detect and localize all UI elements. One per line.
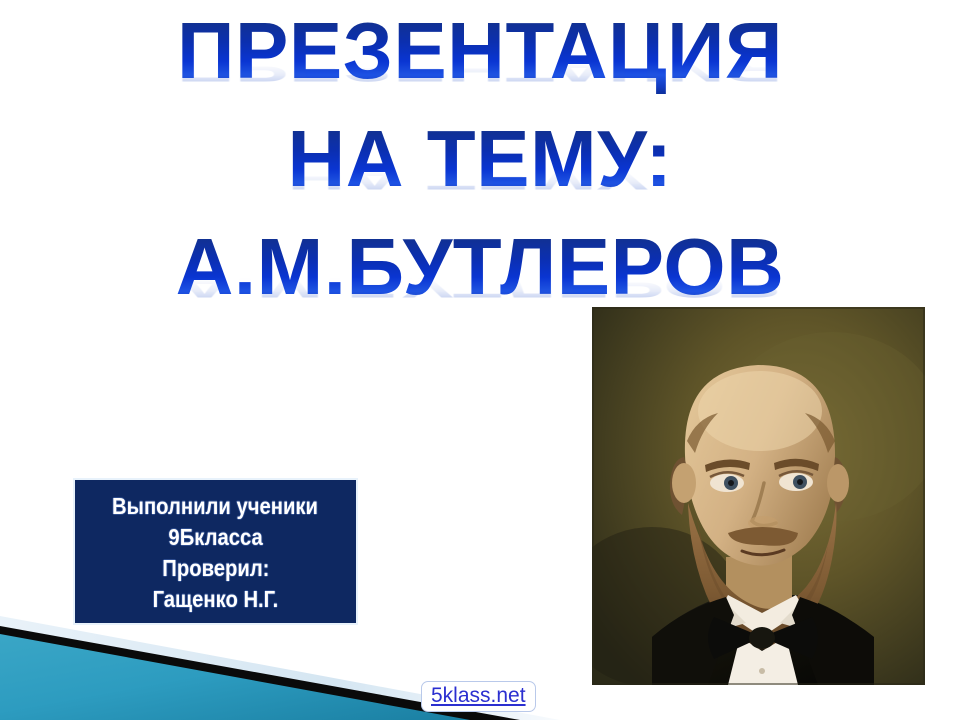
info-line-3: Проверил:: [162, 553, 269, 584]
title-line-1-wrap: ПРЕЗЕНТАЦИЯ ПРЕЗЕНТАЦИЯ: [0, 8, 960, 116]
watermark-link[interactable]: 5klass.net: [421, 681, 536, 712]
presentation-slide: ПРЕЗЕНТАЦИЯ ПРЕЗЕНТАЦИЯ НА ТЕМУ: НА ТЕМУ…: [0, 0, 960, 720]
watermark-label[interactable]: 5klass.net: [431, 684, 526, 707]
slide-title: ПРЕЗЕНТАЦИЯ ПРЕЗЕНТАЦИЯ НА ТЕМУ: НА ТЕМУ…: [0, 8, 960, 332]
title-line-2-wrap: НА ТЕМУ: НА ТЕМУ:: [0, 116, 960, 224]
title-line-1-reflection: ПРЕЗЕНТАЦИЯ: [0, 52, 960, 88]
title-line-2-reflection: НА ТЕМУ:: [0, 160, 960, 196]
info-line-2: 9Бкласса: [168, 522, 262, 553]
portrait-illustration: [592, 307, 925, 685]
info-line-4: Гащенко Н.Г.: [153, 584, 279, 615]
info-line-1: Выполнили ученики: [113, 491, 319, 522]
title-line-1: ПРЕЗЕНТАЦИЯ: [0, 8, 960, 94]
authors-info-box: Выполнили ученики 9Бкласса Проверил: Гащ…: [73, 478, 358, 625]
title-line-3: А.М.БУТЛЕРОВ: [0, 224, 960, 310]
title-line-3-reflection: А.М.БУТЛЕРОВ: [0, 268, 960, 304]
title-line-2: НА ТЕМУ:: [0, 116, 960, 202]
portrait-butlerov-image: [592, 307, 925, 685]
